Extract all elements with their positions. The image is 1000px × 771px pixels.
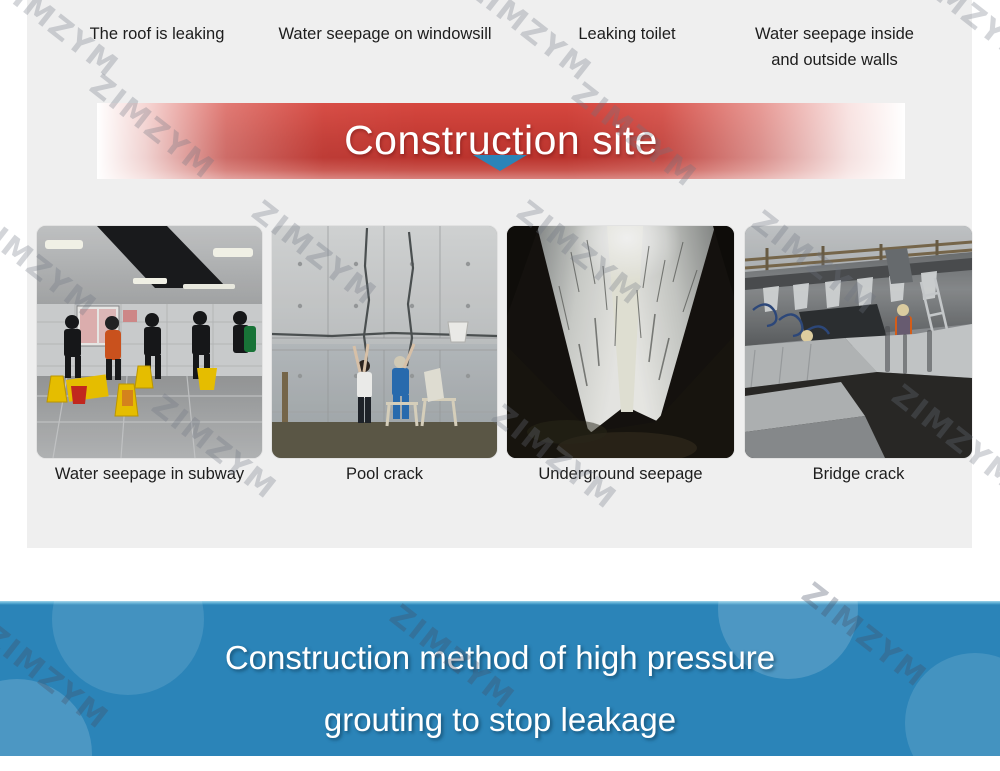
gallery-row <box>27 226 972 458</box>
gallery-caption-pool-crack: Pool crack <box>272 465 497 484</box>
gallery-photo-underground-seepage[interactable] <box>507 226 734 458</box>
method-banner: Construction method of high pressure gro… <box>0 601 1000 756</box>
problem-label-toilet: Leaking toilet <box>532 21 722 47</box>
problem-label-roof: The roof is leaking <box>47 21 267 47</box>
gallery-caption-water-seepage-in-subway: Water seepage in subway <box>27 465 272 484</box>
gallery-photo-bridge-crack[interactable] <box>745 226 972 458</box>
problem-label-windowsill: Water seepage on windowsill <box>245 21 525 47</box>
gallery-photo-water-seepage-in-subway[interactable] <box>37 226 262 458</box>
problem-label-row: The roof is leaking Water seepage on win… <box>27 0 972 86</box>
gallery-caption-row: Water seepage in subway Pool crack Under… <box>27 465 972 505</box>
gallery-caption-bridge-crack: Bridge crack <box>745 465 972 484</box>
problem-label-walls: Water seepage inside and outside walls <box>717 21 952 73</box>
method-banner-notch <box>473 155 527 171</box>
method-banner-heading: Construction method of high pressure gro… <box>0 627 1000 751</box>
gallery-photo-pool-crack[interactable] <box>272 226 497 458</box>
gallery-caption-underground-seepage: Underground seepage <box>507 465 734 484</box>
